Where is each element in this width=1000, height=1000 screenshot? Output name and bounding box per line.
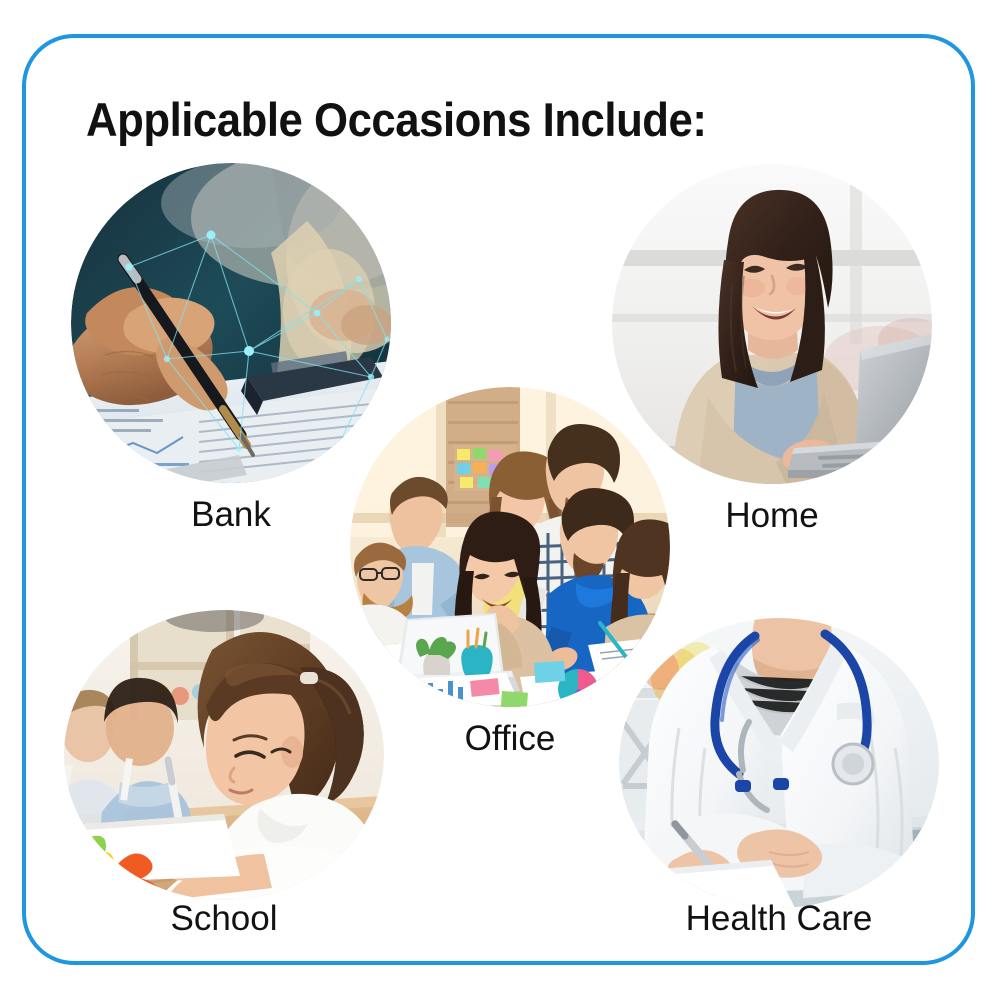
office-photo: [350, 387, 670, 707]
infographic-page: Applicable Occasions Include:: [0, 0, 1000, 1000]
occasion-office[interactable]: Office: [350, 387, 670, 707]
bank-label: Bank: [71, 495, 391, 535]
office-label: Office: [350, 719, 670, 759]
occasion-school[interactable]: School: [64, 610, 384, 930]
occasion-bank[interactable]: Bank: [71, 163, 391, 483]
school-label: School: [64, 899, 384, 939]
school-photo: [64, 610, 384, 900]
health-label: Health Care: [619, 899, 939, 939]
page-title: Applicable Occasions Include:: [86, 92, 706, 148]
bank-photo: [71, 163, 391, 483]
